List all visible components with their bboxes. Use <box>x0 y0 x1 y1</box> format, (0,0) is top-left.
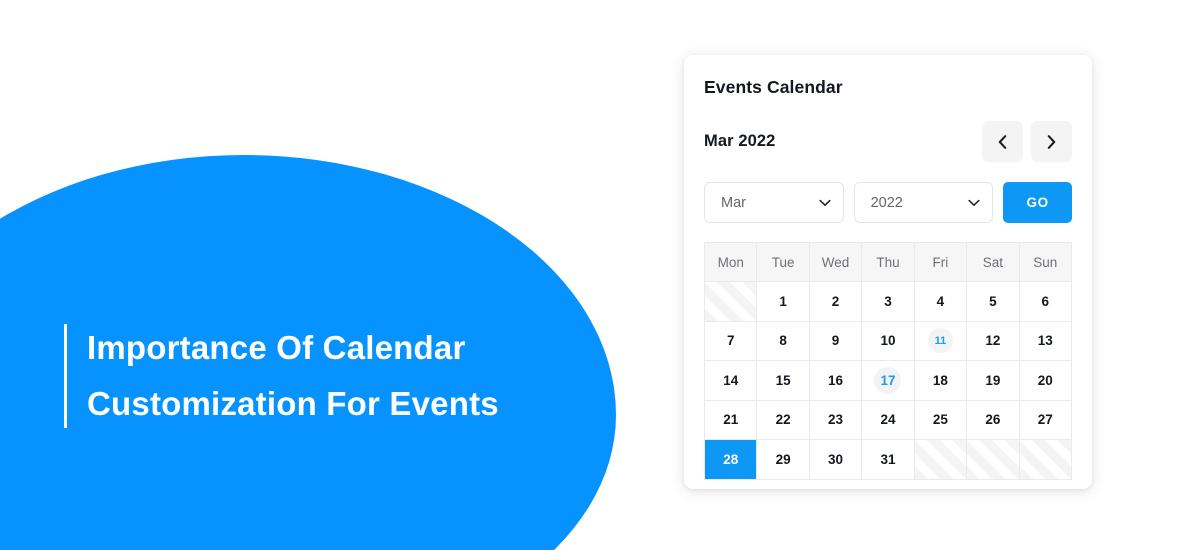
calendar-cell-empty <box>915 440 967 480</box>
calendar-day-label: 13 <box>1032 327 1059 354</box>
weekday-header-fri: Fri <box>915 243 967 282</box>
calendar-day-label: 25 <box>927 406 954 433</box>
calendar-day-event[interactable]: 17 <box>862 361 914 401</box>
calendar-day-label: 3 <box>874 288 901 315</box>
calendar-day[interactable]: 27 <box>1020 401 1072 441</box>
calendar-day-label: 6 <box>1032 288 1059 315</box>
calendar-day-label: 4 <box>927 288 954 315</box>
calendar-day-event[interactable]: 11 <box>915 322 967 362</box>
weekday-header-sat: Sat <box>967 243 1019 282</box>
calendar-day[interactable]: 29 <box>757 440 809 480</box>
calendar-day[interactable]: 8 <box>757 322 809 362</box>
calendar-day-label: 17 <box>874 367 901 394</box>
calendar-day-label: 12 <box>979 327 1006 354</box>
calendar-day[interactable]: 14 <box>705 361 757 401</box>
prev-month-button[interactable] <box>982 121 1023 162</box>
weekday-header-thu: Thu <box>862 243 914 282</box>
calendar-day-label: 19 <box>979 367 1006 394</box>
calendar-day[interactable]: 4 <box>915 282 967 322</box>
calendar-day-label: 24 <box>874 406 901 433</box>
calendar-day-label: 28 <box>717 446 744 473</box>
calendar-day[interactable]: 15 <box>757 361 809 401</box>
calendar-day[interactable]: 26 <box>967 401 1019 441</box>
calendar-day[interactable]: 16 <box>810 361 862 401</box>
calendar-day-label: 15 <box>770 367 797 394</box>
go-button[interactable]: GO <box>1003 182 1072 223</box>
calendar-day-label: 30 <box>822 446 849 473</box>
headline-line-1: Importance Of Calendar <box>87 320 499 376</box>
calendar-day-label: 9 <box>822 327 849 354</box>
calendar-day-label: 20 <box>1032 367 1059 394</box>
calendar-day-label: 5 <box>979 288 1006 315</box>
calendar-day-label: 14 <box>717 367 744 394</box>
calendar-day-label: 26 <box>979 406 1006 433</box>
calendar-cell-empty <box>705 282 757 322</box>
calendar-day-label: 1 <box>770 288 797 315</box>
calendar-day[interactable]: 23 <box>810 401 862 441</box>
calendar-day[interactable]: 25 <box>915 401 967 441</box>
year-select-value: 2022 <box>871 195 969 211</box>
calendar-day[interactable]: 5 <box>967 282 1019 322</box>
calendar-day-label: 22 <box>770 406 797 433</box>
events-calendar-card: Events Calendar Mar 2022 <box>684 55 1092 489</box>
calendar-day[interactable]: 12 <box>967 322 1019 362</box>
calendar-day[interactable]: 13 <box>1020 322 1072 362</box>
weekday-header-sun: Sun <box>1020 243 1072 282</box>
calendar-day[interactable]: 7 <box>705 322 757 362</box>
calendar-day-label: 11 <box>928 328 953 353</box>
calendar-day[interactable]: 19 <box>967 361 1019 401</box>
year-select[interactable]: 2022 <box>854 182 994 223</box>
next-month-button[interactable] <box>1031 121 1072 162</box>
calendar-day[interactable]: 3 <box>862 282 914 322</box>
calendar-day[interactable]: 9 <box>810 322 862 362</box>
calendar-day[interactable]: 6 <box>1020 282 1072 322</box>
calendar-day[interactable]: 1 <box>757 282 809 322</box>
calendar-day[interactable]: 20 <box>1020 361 1072 401</box>
calendar-day-label: 2 <box>822 288 849 315</box>
calendar-day-label: 10 <box>874 327 901 354</box>
page-title: Importance Of Calendar Customization For… <box>67 320 499 432</box>
calendar-cell-empty <box>967 440 1019 480</box>
calendar-day[interactable]: 18 <box>915 361 967 401</box>
month-header-row: Mar 2022 <box>704 121 1072 162</box>
calendar-grid: MonTueWedThuFriSatSun1234567891011121314… <box>704 242 1072 480</box>
calendar-day[interactable]: 21 <box>705 401 757 441</box>
calendar-day-label: 18 <box>927 367 954 394</box>
card-title: Events Calendar <box>704 77 1072 98</box>
weekday-header-wed: Wed <box>810 243 862 282</box>
headline-line-2: Customization For Events <box>87 376 499 432</box>
calendar-day-label: 27 <box>1032 406 1059 433</box>
month-select-value: Mar <box>721 195 819 211</box>
chevron-left-icon <box>998 135 1007 149</box>
calendar-day-label: 16 <box>822 367 849 394</box>
calendar-day-label: 8 <box>770 327 797 354</box>
current-month-label: Mar 2022 <box>704 132 775 151</box>
calendar-day-label: 21 <box>717 406 744 433</box>
weekday-header-tue: Tue <box>757 243 809 282</box>
calendar-day-selected[interactable]: 28 <box>705 440 757 480</box>
calendar-day[interactable]: 22 <box>757 401 809 441</box>
calendar-day[interactable]: 2 <box>810 282 862 322</box>
calendar-cell-empty <box>1020 440 1072 480</box>
page-root: Importance Of Calendar Customization For… <box>0 0 1200 550</box>
hero-text-block: Importance Of Calendar Customization For… <box>64 320 499 432</box>
chevron-down-icon <box>968 199 980 207</box>
calendar-day-label: 7 <box>717 327 744 354</box>
calendar-day-label: 23 <box>822 406 849 433</box>
chevron-down-icon <box>819 199 831 207</box>
date-picker-controls: Mar 2022 GO <box>704 182 1072 223</box>
calendar-day[interactable]: 30 <box>810 440 862 480</box>
calendar-day-label: 29 <box>770 446 797 473</box>
calendar-day[interactable]: 31 <box>862 440 914 480</box>
weekday-header-mon: Mon <box>705 243 757 282</box>
month-nav-group <box>982 121 1072 162</box>
chevron-right-icon <box>1047 135 1056 149</box>
month-select[interactable]: Mar <box>704 182 844 223</box>
calendar-day[interactable]: 10 <box>862 322 914 362</box>
calendar-day[interactable]: 24 <box>862 401 914 441</box>
calendar-day-label: 31 <box>874 446 901 473</box>
